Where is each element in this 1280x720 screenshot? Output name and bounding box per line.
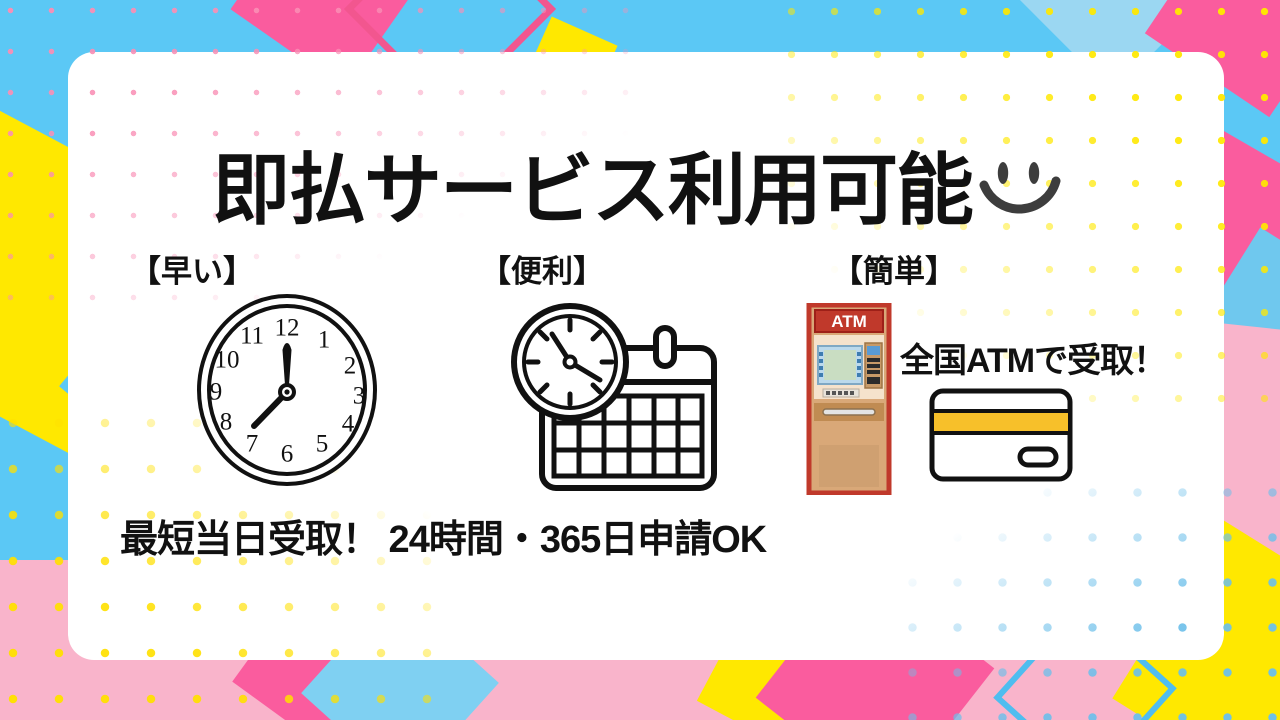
- feature-labels: 【早い】 【便利】 【簡単】: [0, 246, 1280, 288]
- feature-label-easy: 【簡単】: [832, 246, 956, 291]
- banner-root: 即払サービス利用可能 【早い】 【便利】 【簡単】 12 1: [0, 0, 1280, 720]
- svg-text:4: 4: [342, 411, 355, 438]
- svg-text:9: 9: [210, 379, 223, 406]
- bottom-headline: 最短当日受取！ 24時間・365日申請OK: [120, 508, 766, 563]
- banner-content: 即払サービス利用可能 【早い】 【便利】 【簡単】 12 1: [0, 0, 1280, 720]
- svg-text:6: 6: [281, 441, 294, 468]
- svg-text:2: 2: [344, 353, 357, 380]
- svg-text:7: 7: [246, 431, 259, 458]
- svg-text:12: 12: [275, 315, 300, 342]
- atm-machine-icon: ATM: [805, 303, 893, 500]
- feature-label-convenient: 【便利】: [480, 246, 604, 291]
- svg-text:8: 8: [220, 409, 233, 436]
- svg-text:11: 11: [240, 323, 264, 350]
- svg-text:10: 10: [215, 347, 240, 374]
- svg-text:1: 1: [318, 327, 331, 354]
- smiley-face-icon: [976, 151, 1068, 246]
- banner-title: 即払サービス利用可能: [0, 128, 1280, 246]
- credit-card-icon: [928, 385, 1074, 490]
- feature-label-fast: 【早い】: [130, 246, 254, 291]
- svg-text:5: 5: [316, 431, 329, 458]
- atm-caption: 全国ATMで受取！: [900, 333, 1166, 382]
- banner-title-text: 即払サービス利用可能: [212, 146, 972, 234]
- svg-text:3: 3: [353, 383, 366, 410]
- calendar-clock-icon: [508, 302, 722, 503]
- analog-clock-icon: 12 1 2 3 4 5 6 7 8 9 10 11: [196, 292, 378, 493]
- atm-sign-text: ATM: [831, 312, 867, 331]
